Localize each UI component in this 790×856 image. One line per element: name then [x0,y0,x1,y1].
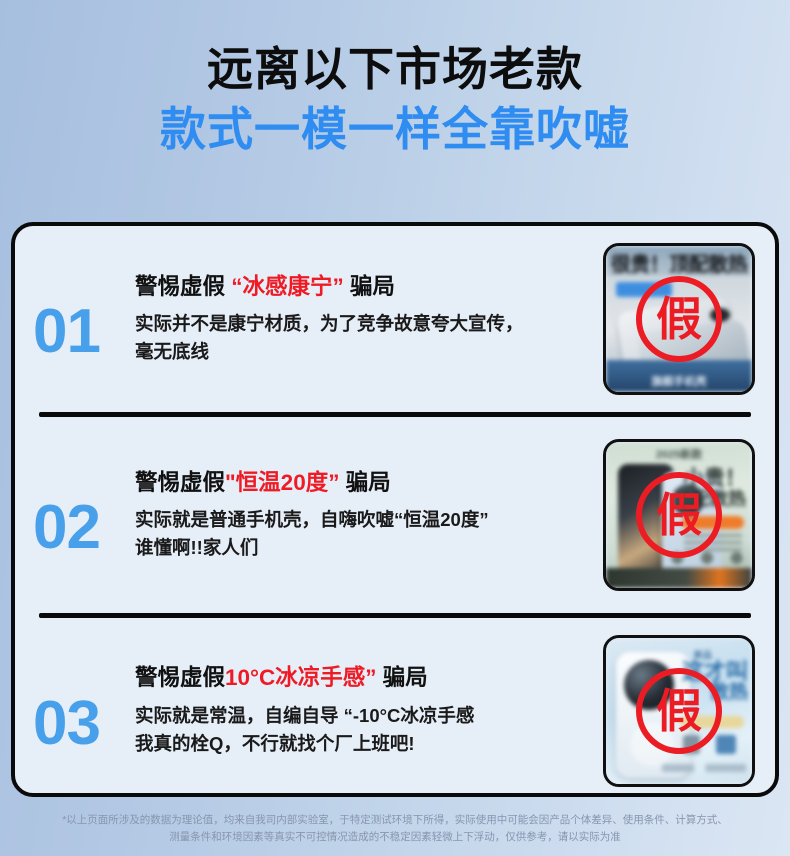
product-thumbnail[interactable]: 很贵！顶配散热 旗舰手机壳 假 [603,243,755,395]
photo-caption-bar [662,764,746,772]
item-body: 实际就是常温，自编自导 “-10°C冰凉手感 我真的栓Q，不行就找个厂上班吧! [135,702,595,758]
item-title-suffix: 骗局 [344,274,395,299]
item-title-prefix: 警惕虚假 [135,665,225,690]
item-title-highlight: “冰感康宁” [231,274,344,299]
item-title: 警惕虚假"恒温20度” 骗局 [135,468,595,497]
item-body-line: 实际就是普通手机壳，自嗨吹嘘“恒温20度” [135,506,595,534]
headline-secondary: 款式一模一样全靠吹嘘 [0,102,790,156]
photo-feature-icon-b [716,735,736,754]
product-thumbnail[interactable]: 新品 这才叫散热 假 [603,635,755,787]
list-item: 01 警惕虚假 “冰感康宁” 骗局 实际并不是康宁材质，为了竞争故意夸大宣传， … [15,226,775,412]
thumb-bottom-label: 旗舰手机壳 [606,373,752,389]
item-number: 01 [33,275,135,363]
page-header: 远离以下市场老款 款式一模一样全靠吹嘘 [0,0,790,157]
disclaimer-line: *以上页面所涉及的数据为理论值，均来自我司内部实验室，于特定测试环境下所得，实际… [28,812,762,829]
item-title-highlight: "恒温20度” [225,470,339,495]
item-body-line: 实际就是常温，自编自导 “-10°C冰凉手感 [135,702,595,730]
item-title: 警惕虚假10°C冰凉手感” 骗局 [135,663,595,692]
item-title-prefix: 警惕虚假 [135,470,225,495]
item-body: 实际就是普通手机壳，自嗨吹嘘“恒温20度” 谁懂啊!!家人们 [135,506,595,562]
thumb-headline: 很贵！顶配散热 [606,248,752,277]
warning-card: 01 警惕虚假 “冰感康宁” 骗局 实际并不是康宁材质，为了竞争故意夸大宣传， … [11,222,779,797]
item-body-line: 实际并不是康宁材质，为了竞争故意夸大宣传， [135,310,595,338]
list-item: 03 警惕虚假10°C冰凉手感” 骗局 实际就是常温，自编自导 “-10°C冰凉… [15,618,775,797]
item-title-suffix: 骗局 [377,665,428,690]
item-number: 02 [33,471,135,559]
headline-primary: 远离以下市场老款 [0,42,790,96]
thumb-top-label: 2025新款 [606,446,752,462]
item-text-block: 警惕虚假 “冰感康宁” 骗局 实际并不是康宁材质，为了竞争故意夸大宣传， 毫无底… [135,272,603,366]
product-thumbnail[interactable]: 2025新款 小贵！顶配散热 假 [603,439,755,591]
list-item: 02 警惕虚假"恒温20度” 骗局 实际就是普通手机壳，自嗨吹嘘“恒温20度” … [15,417,775,613]
item-body-line: 我真的栓Q，不行就找个厂上班吧! [135,730,595,758]
item-text-block: 警惕虚假"恒温20度” 骗局 实际就是普通手机壳，自嗨吹嘘“恒温20度” 谁懂啊… [135,468,603,562]
fake-stamp-icon: 假 [636,668,722,754]
photo-bottom-band [606,568,752,588]
disclaimer: *以上页面所涉及的数据为理论值，均来自我司内部实验室，于特定测试环境下所得，实际… [0,812,790,846]
disclaimer-line: 测量条件和环境因素等真实不可控情况造成的不稳定因素轻微上下浮动，仅供参考，请以实… [28,829,762,846]
item-body-line: 毫无底线 [135,338,595,366]
item-title: 警惕虚假 “冰感康宁” 骗局 [135,272,595,301]
item-body: 实际并不是康宁材质，为了竞争故意夸大宣传， 毫无底线 [135,310,595,366]
fake-stamp-icon: 假 [636,276,722,362]
item-body-line: 谁懂啊!!家人们 [135,534,595,562]
item-text-block: 警惕虚假10°C冰凉手感” 骗局 实际就是常温，自编自导 “-10°C冰凉手感 … [135,663,603,757]
fake-stamp-icon: 假 [636,472,722,558]
item-number: 03 [33,667,135,755]
item-title-prefix: 警惕虚假 [135,274,231,299]
item-title-suffix: 骗局 [339,470,390,495]
item-title-highlight: 10°C冰凉手感” [225,665,377,690]
